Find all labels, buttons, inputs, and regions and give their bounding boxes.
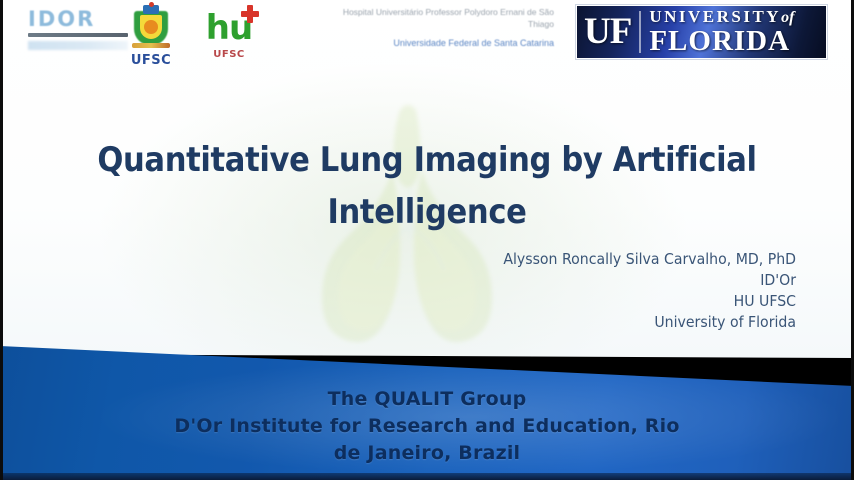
hu-ufsc-logo: hu UFSC: [196, 8, 262, 74]
ufsc-crest-icon: [130, 5, 172, 51]
uf-university-word: UNIVERSITYof: [649, 8, 794, 26]
uf-monogram: UF: [584, 12, 631, 52]
uf-divider: [639, 11, 641, 53]
uf-florida-word: FLORIDA: [649, 27, 794, 56]
medical-cross-icon: [241, 5, 259, 23]
footer-line-2: D'Or Institute for Research and Educatio…: [0, 413, 854, 440]
page-title: Quantitative Lung Imaging by Artificial …: [97, 134, 758, 238]
hospital-caption-line2: Thiago: [282, 18, 554, 30]
idor-logo: IDOR: [28, 8, 132, 64]
hu-ufsc-subtext: UFSC: [196, 49, 262, 60]
title-line-2: Intelligence: [97, 186, 758, 238]
footer-affiliation: The QUALIT Group D'Or Institute for Rese…: [0, 386, 854, 467]
author-name: Alysson Roncally Silva Carvalho, MD, PhD: [401, 249, 796, 270]
idor-subtext-blur: [28, 41, 128, 50]
logo-bar: IDOR UFSC hu UFSC Hospital Universit: [0, 0, 854, 78]
author-block: Alysson Roncally Silva Carvalho, MD, PhD…: [401, 249, 796, 333]
hospital-caption-line3: Universidade Federal de Santa Catarina: [282, 37, 554, 50]
footer-line-3: de Janeiro, Brazil: [0, 440, 854, 467]
author-affiliation-huufsc: HU UFSC: [401, 291, 796, 312]
hospital-caption: Hospital Universitário Professor Polydor…: [282, 6, 554, 50]
footer-line-1: The QUALIT Group: [0, 386, 854, 413]
video-frame-left-edge: [0, 0, 3, 480]
author-affiliation-idor: ID'Or: [401, 270, 796, 291]
uf-university-text: UNIVERSITY: [649, 7, 781, 26]
author-affiliation-uf: University of Florida: [401, 312, 796, 333]
ufsc-crest-logo: UFSC: [124, 5, 178, 75]
hospital-caption-line1: Hospital Universitário Professor Polydor…: [282, 6, 554, 18]
idor-rule: [28, 33, 128, 37]
presentation-title-slide: IDOR UFSC hu UFSC Hospital Universit: [0, 0, 854, 480]
university-of-florida-logo: UF UNIVERSITYof FLORIDA: [575, 4, 828, 60]
ufsc-wordmark: UFSC: [124, 53, 178, 68]
idor-wordmark: IDOR: [28, 8, 132, 30]
uf-of-text: of: [781, 9, 794, 26]
bottom-edge-strip: [0, 473, 854, 480]
hu-mark-icon: hu: [197, 8, 261, 50]
title-line-1: Quantitative Lung Imaging by Artificial: [97, 134, 758, 186]
